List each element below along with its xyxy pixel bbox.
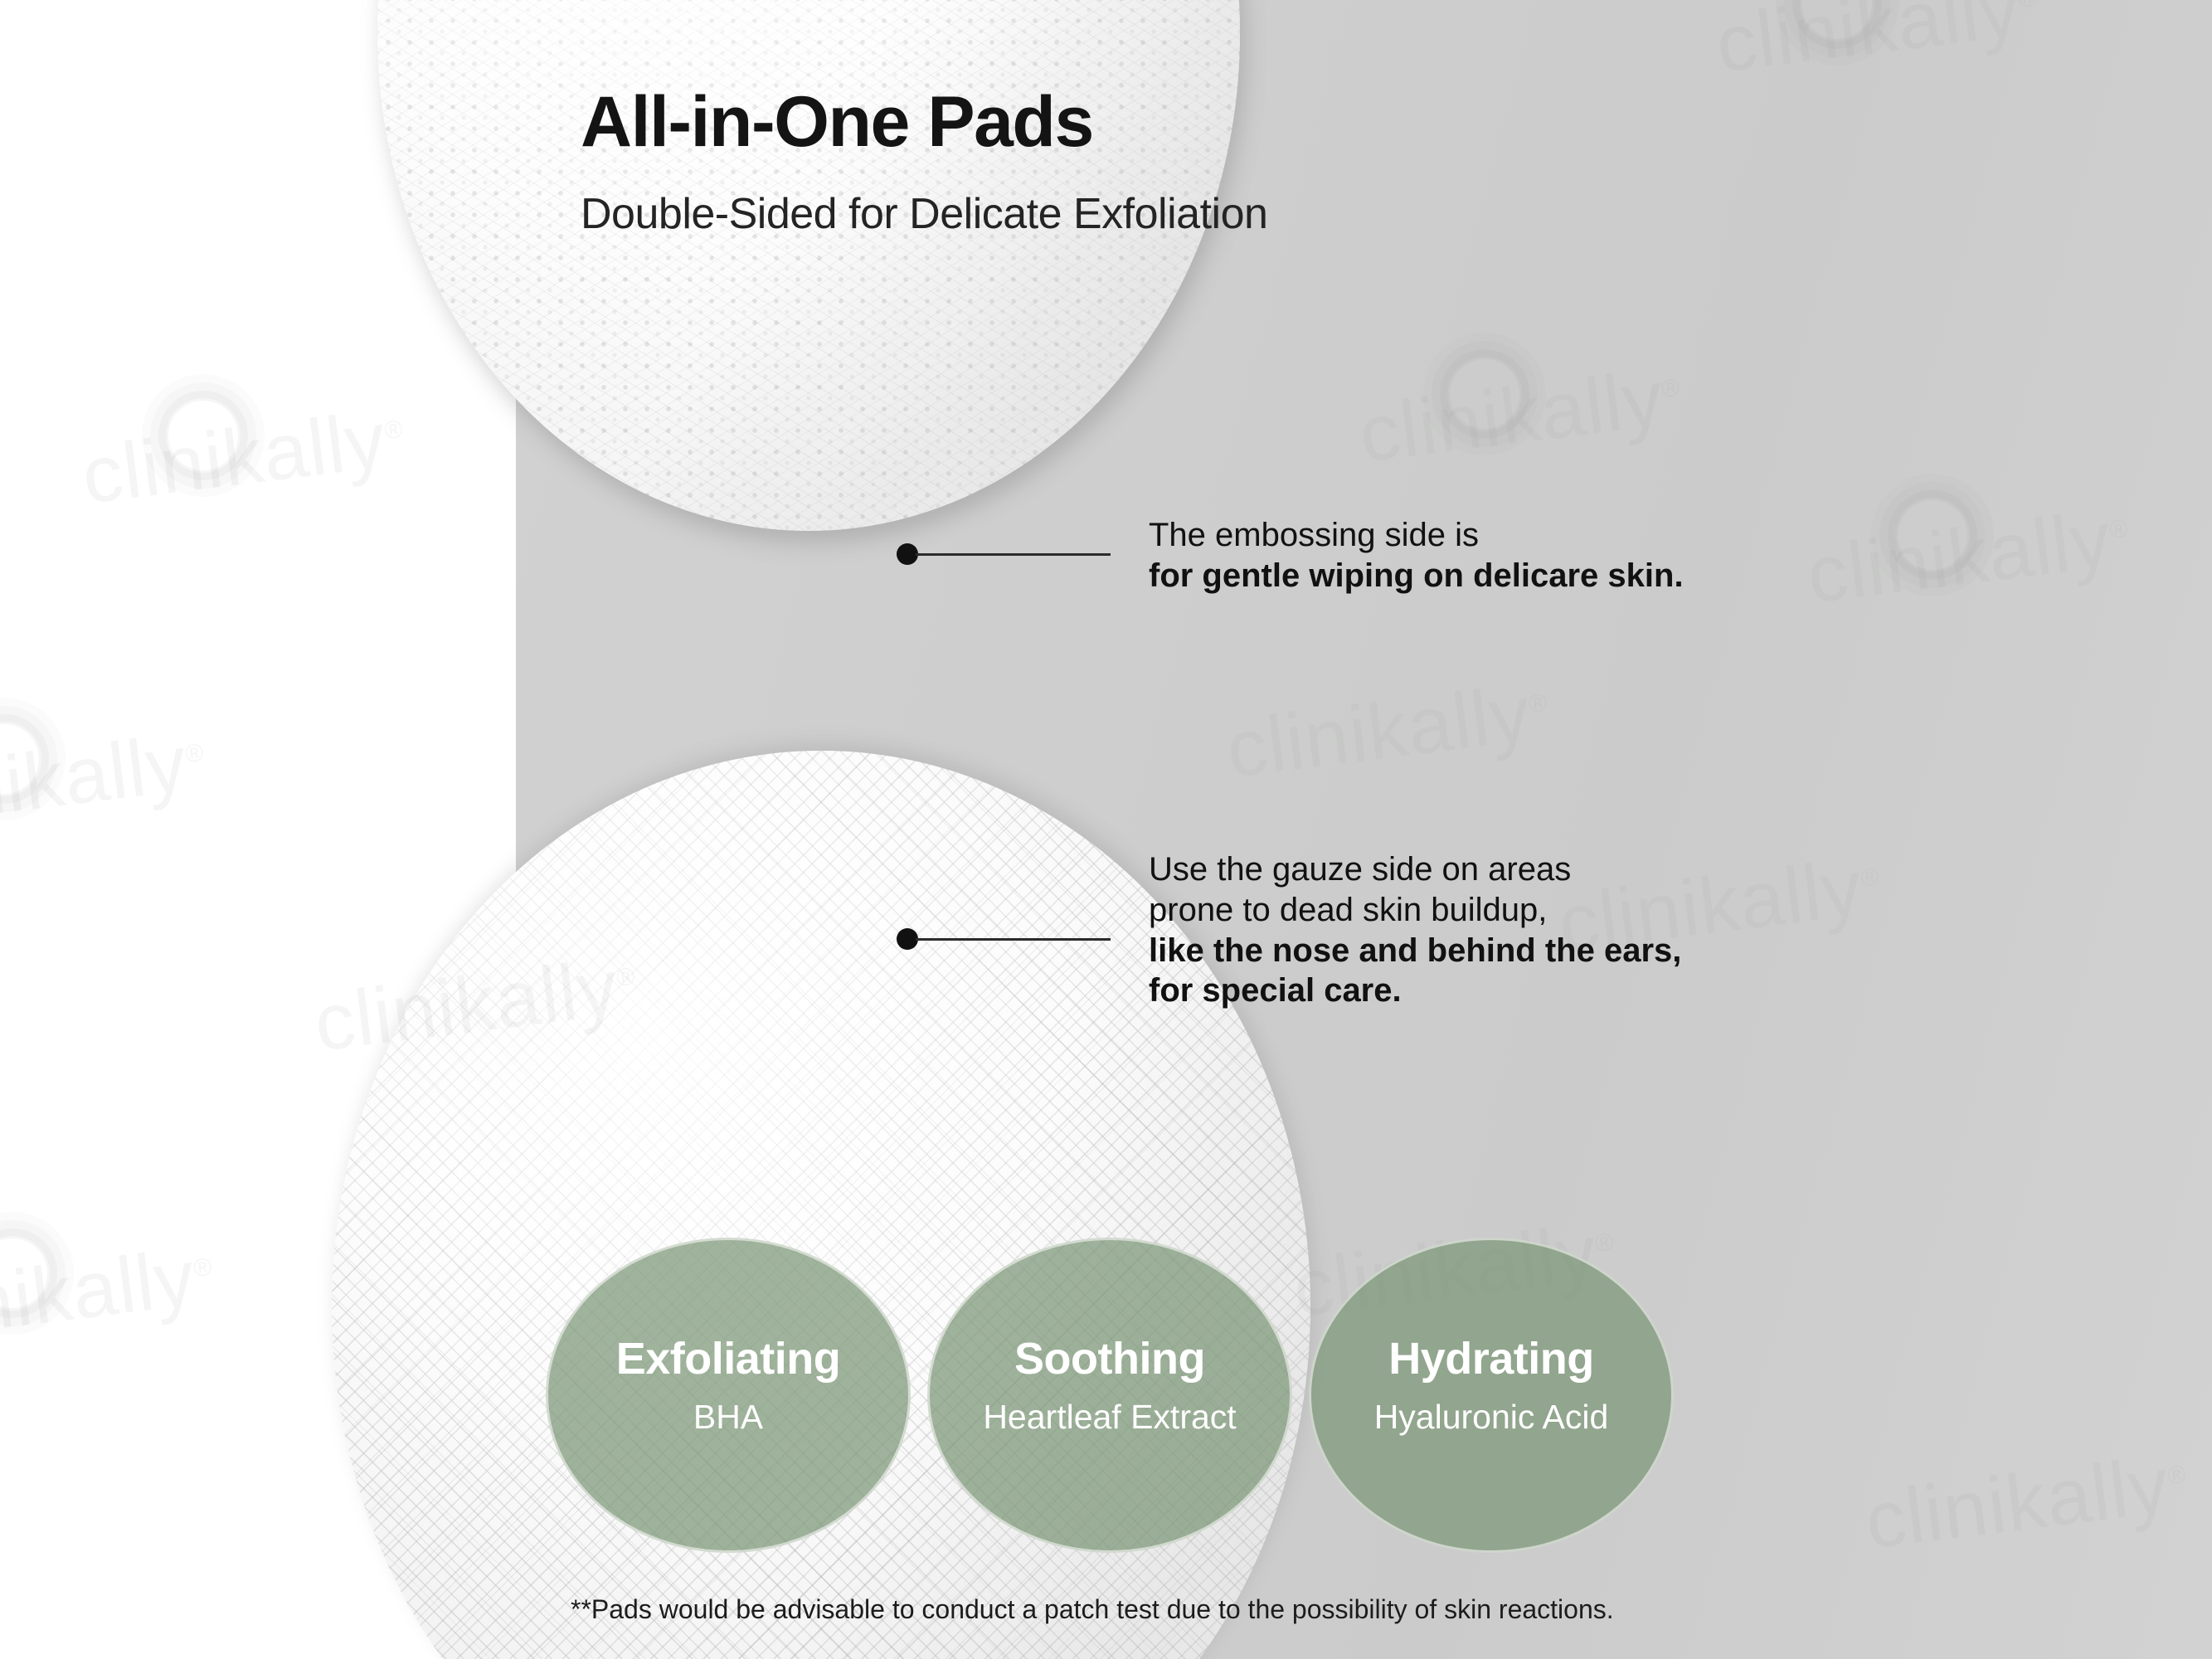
benefit-label-soothing: Soothing Heartleaf Extract	[927, 1333, 1292, 1437]
footnote-disclaimer: **Pads would be advisable to conduct a p…	[571, 1594, 1614, 1625]
benefit-ingredient: Heartleaf Extract	[927, 1398, 1292, 1437]
infographic-canvas: clinikally® clinikally® clinikally® clin…	[0, 0, 2212, 1659]
benefit-label-hydrating: Hydrating Hyaluronic Acid	[1309, 1333, 1674, 1437]
benefit-ingredient: BHA	[546, 1398, 911, 1437]
benefit-label-exfoliating: Exfoliating BHA	[546, 1333, 911, 1437]
benefit-title: Exfoliating	[546, 1333, 911, 1384]
benefit-title: Soothing	[927, 1333, 1292, 1384]
benefit-title: Hydrating	[1309, 1333, 1674, 1384]
benefit-ingredient: Hyaluronic Acid	[1309, 1398, 1674, 1437]
benefits-venn-diagram: Exfoliating BHA Soothing Heartleaf Extra…	[0, 0, 2212, 1659]
